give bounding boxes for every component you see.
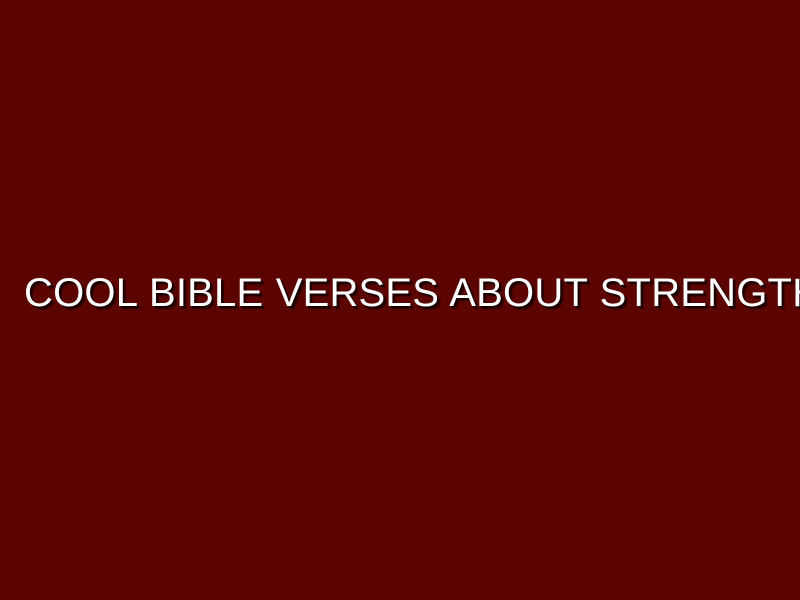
- title-card: COOL BIBLE VERSES ABOUT STRENGTH: [0, 0, 800, 600]
- headline-container: COOL BIBLE VERSES ABOUT STRENGTH: [0, 271, 800, 315]
- page-title: COOL BIBLE VERSES ABOUT STRENGTH: [24, 271, 800, 315]
